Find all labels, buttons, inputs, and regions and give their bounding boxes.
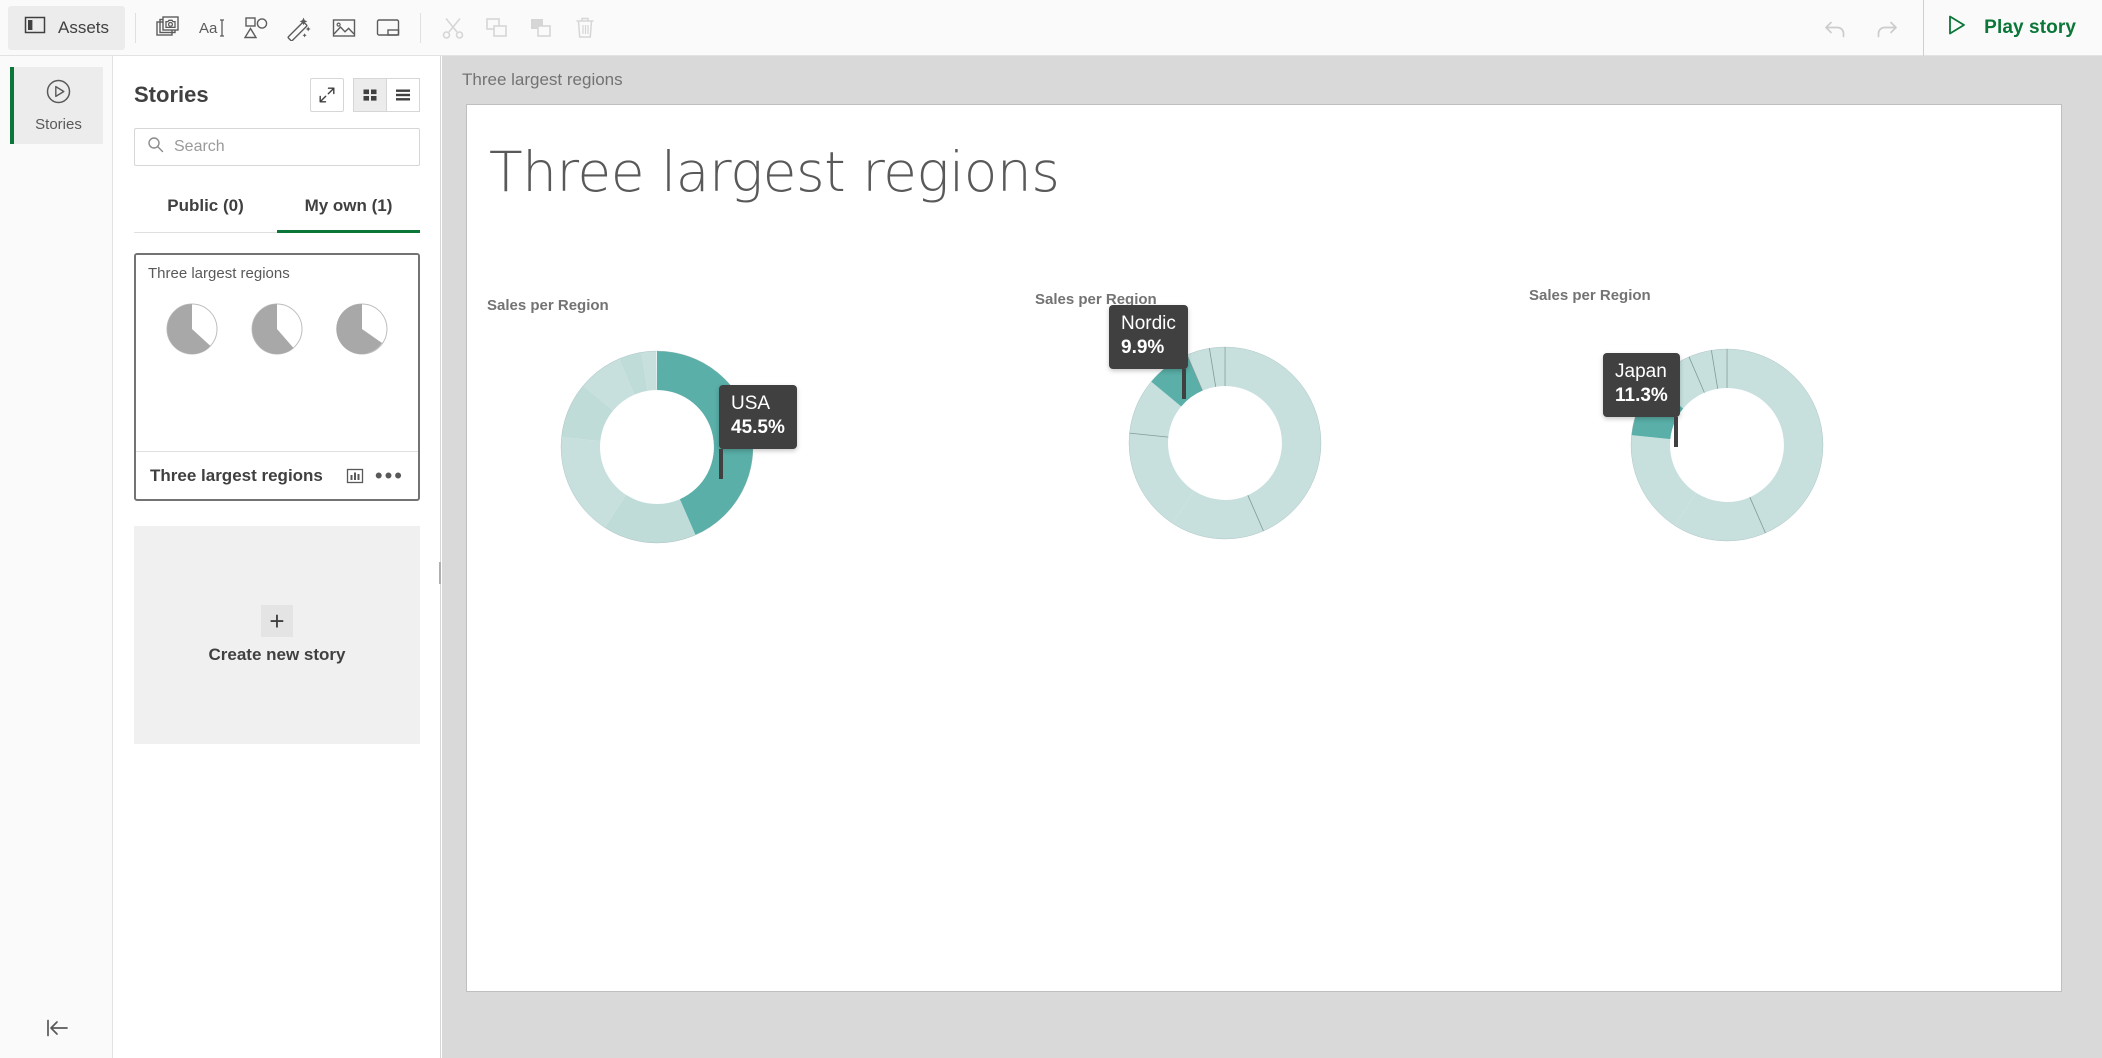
story-thumb-title: Three largest regions — [148, 265, 290, 282]
tooltip-label: Nordic — [1121, 312, 1176, 336]
list-view-button[interactable] — [386, 78, 420, 112]
undo-redo-group — [1813, 6, 1909, 50]
qlik-story-editor: Assets Aa — [0, 0, 2102, 1058]
story-card-footer: Three largest regions ••• — [136, 451, 418, 499]
delete-icon[interactable] — [563, 6, 607, 50]
tooltip-usa: USA 45.5% — [719, 385, 797, 449]
tooltip-label: USA — [731, 392, 785, 416]
thumb-pie-row — [136, 301, 418, 357]
create-new-story-card[interactable]: + Create new story — [134, 526, 420, 744]
thumb-pie-icon-1 — [164, 301, 220, 357]
top-toolbar: Assets Aa — [0, 0, 2102, 56]
viz-sales-per-region-3[interactable]: Sales per Region — [1529, 287, 2029, 707]
plus-icon: + — [261, 605, 293, 637]
play-story-label: Play story — [1984, 17, 2076, 39]
expand-panel-button[interactable] — [310, 78, 344, 112]
play-circle-icon — [45, 78, 72, 110]
story-card-list: Three largest regions — [114, 233, 440, 501]
viz-sales-per-region-2[interactable]: Sales per Region — [1035, 291, 1535, 711]
breadcrumb: Three largest regions — [462, 70, 623, 90]
story-card[interactable]: Three largest regions — [134, 253, 420, 501]
tooltip-value: 9.9% — [1121, 336, 1176, 360]
effects-icon[interactable] — [278, 6, 322, 50]
left-icon-rail: Stories — [0, 56, 113, 1058]
assets-button[interactable]: Assets — [8, 6, 125, 50]
panel-layout-icon — [24, 14, 46, 41]
tooltip-japan: Japan 11.3% — [1603, 353, 1680, 417]
svg-text:Aa: Aa — [199, 20, 218, 37]
story-thumbnail: Three largest regions — [136, 255, 418, 451]
tooltip-stem — [1674, 417, 1678, 447]
sidebar-item-label: Stories — [35, 116, 82, 133]
viz-title-3: Sales per Region — [1529, 287, 1651, 304]
redo-icon[interactable] — [1865, 6, 1909, 50]
grid-view-button[interactable] — [353, 78, 387, 112]
undo-icon[interactable] — [1813, 6, 1857, 50]
tooltip-label: Japan — [1615, 360, 1668, 384]
toolbar-divider-1 — [135, 13, 136, 43]
media-image-icon[interactable] — [322, 6, 366, 50]
search-icon — [147, 136, 164, 158]
handle-bar-1 — [439, 562, 441, 584]
paste-icon[interactable] — [519, 6, 563, 50]
story-slide[interactable]: Three largest regions Sales per Region — [466, 104, 2062, 992]
thumb-pie-icon-2 — [249, 301, 305, 357]
donut-chart-1[interactable] — [547, 337, 767, 562]
story-stage: Three largest regions Three largest regi… — [442, 56, 2102, 1058]
search-input[interactable] — [174, 138, 407, 156]
viz-title-1: Sales per Region — [487, 297, 609, 314]
view-toggle-group — [354, 78, 420, 112]
stories-tabs: Public (0) My own (1) — [134, 188, 420, 233]
tab-public[interactable]: Public (0) — [134, 188, 277, 233]
sheet-icon[interactable] — [366, 6, 410, 50]
toolbar-divider-2 — [420, 13, 421, 43]
viz-sales-per-region-1[interactable]: Sales per Region — [487, 297, 987, 717]
tooltip-nordic: Nordic 9.9% — [1109, 305, 1188, 369]
stories-panel-header: Stories — [114, 56, 440, 122]
story-more-options-icon[interactable]: ••• — [375, 471, 404, 481]
play-story-button[interactable]: Play story — [1923, 0, 2102, 56]
play-triangle-icon — [1946, 12, 1970, 43]
shapes-icon[interactable] — [234, 6, 278, 50]
tooltip-value: 45.5% — [731, 416, 785, 440]
panel-header-buttons — [310, 78, 420, 112]
create-new-story-label: Create new story — [209, 645, 346, 665]
panel-title: Stories — [134, 82, 209, 108]
collapse-sidebar-button[interactable] — [0, 998, 113, 1058]
text-icon[interactable]: Aa — [190, 6, 234, 50]
tooltip-stem — [719, 449, 723, 479]
assets-label: Assets — [58, 18, 109, 38]
tooltip-stem — [1182, 369, 1186, 399]
sidebar-item-stories[interactable]: Stories — [10, 67, 103, 144]
tab-my-own[interactable]: My own (1) — [277, 188, 420, 233]
snapshot-library-icon[interactable] — [146, 6, 190, 50]
story-chart-icon[interactable] — [345, 466, 365, 486]
search-box[interactable] — [134, 128, 420, 166]
copy-icon[interactable] — [475, 6, 519, 50]
cut-icon[interactable] — [431, 6, 475, 50]
thumb-pie-icon-3 — [334, 301, 390, 357]
stories-panel: Stories — [114, 56, 441, 1058]
tooltip-value: 11.3% — [1615, 384, 1668, 408]
story-card-name: Three largest regions — [150, 466, 335, 486]
slide-title-text[interactable]: Three largest regions — [489, 140, 1059, 204]
